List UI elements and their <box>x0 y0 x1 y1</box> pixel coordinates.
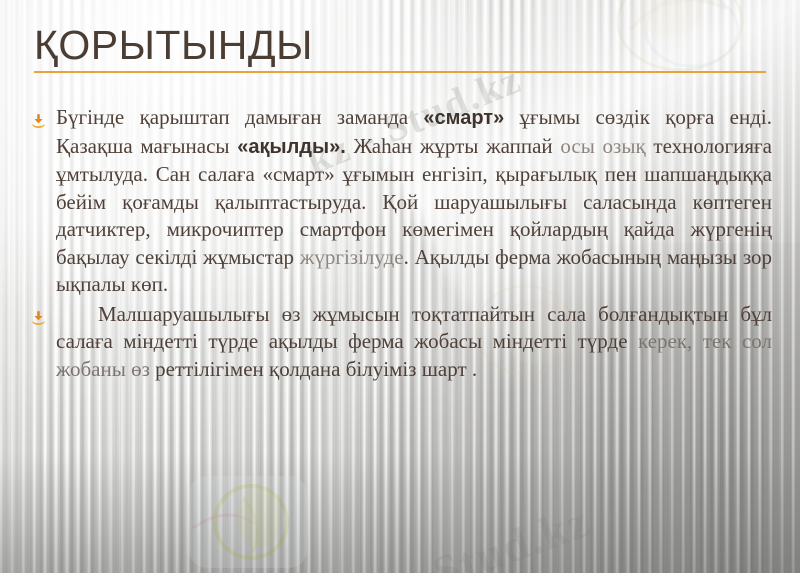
bullet-text-2: Малшаруашылығы өз жұмысын тоқтатпайтын с… <box>56 301 772 384</box>
text-segment: реттілігімен қолдана білуіміз шарт . <box>150 357 477 381</box>
background-bottom-band <box>0 453 800 573</box>
slide-body: Бүгінде қарыштап дамыған заманда «смарт»… <box>30 104 772 385</box>
text-segment: Бүгінде қарыштап дамыған заманда <box>56 105 423 129</box>
bullet-paragraph: Малшаруашылығы өз жұмысын тоқтатпайтын с… <box>30 301 772 384</box>
slide-title: ҚОРЫТЫНДЫ <box>34 22 766 70</box>
text-segment-faded: жүргізілуде <box>300 245 404 269</box>
watermark-logo-bottom <box>185 470 335 573</box>
presentation-slide: kz - Stud.kz Stud.kz ҚОРЫТЫНДЫ Бүгінде қ… <box>0 0 800 573</box>
text-segment-bold: «смарт» <box>423 107 504 129</box>
text-segment-bold: «ақылды». <box>237 136 346 158</box>
title-block: ҚОРЫТЫНДЫ <box>34 22 766 73</box>
bullet-text-1: Бүгінде қарыштап дамыған заманда «смарт»… <box>56 104 772 299</box>
text-segment: Жаһан жұрты жаппай <box>346 134 561 158</box>
text-segment-faded: осы озық <box>560 134 645 158</box>
title-underline <box>34 71 766 73</box>
bullet-marker <box>30 104 56 130</box>
download-tray-icon <box>30 113 47 130</box>
download-tray-icon <box>30 310 47 327</box>
bullet-marker <box>30 301 56 327</box>
bullet-paragraph: Бүгінде қарыштап дамыған заманда «смарт»… <box>30 104 772 299</box>
